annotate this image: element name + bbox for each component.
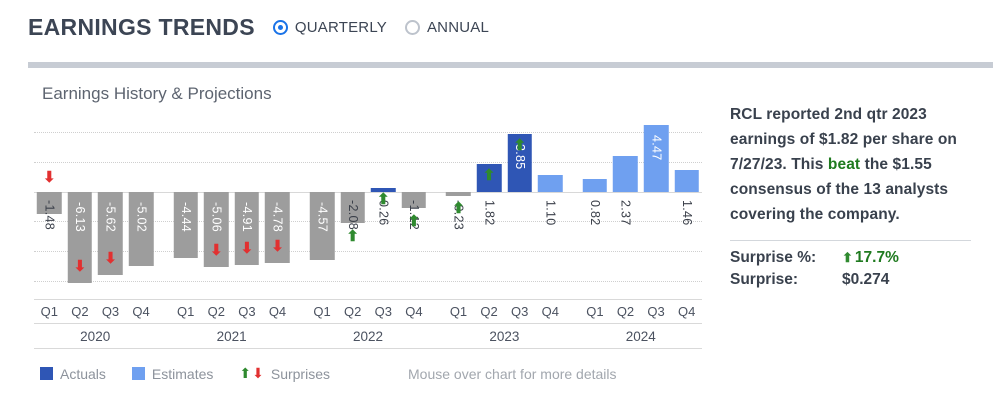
bar-value-label: 1.46 — [680, 200, 693, 226]
bar-slot[interactable]: 1.10 — [535, 114, 566, 299]
quarter-tick-label: Q1 — [580, 304, 611, 319]
surprise-stat-row: Surprise %:⬆17.7% — [730, 249, 971, 267]
bar-value-label: -5.02 — [135, 202, 148, 232]
legend-item-estimates: Estimates — [132, 366, 213, 382]
surprise-arrow-up-icon: ⬆ — [375, 192, 391, 208]
legend-label-surprises: Surprises — [271, 366, 330, 382]
bar-slot[interactable]: 1.82⬆ — [474, 114, 505, 299]
bar-value-label: -4.78 — [271, 202, 284, 232]
surprise-stat-row: Surprise:$0.274 — [730, 271, 971, 289]
bar-value-label: -4.91 — [241, 202, 254, 232]
surprise-arrow-up-icon: ⬆ — [345, 229, 361, 245]
surprise-stat-value: $0.274 — [842, 271, 889, 289]
surprise-stat-key: Surprise: — [730, 271, 842, 289]
quarter-tick-label: Q3 — [232, 304, 263, 319]
bar-slot[interactable]: 0.26⬆ — [368, 114, 399, 299]
bar-slot[interactable]: -0.23⬆ — [443, 114, 474, 299]
radio-quarterly-label: QUARTERLY — [295, 19, 387, 36]
quarter-tick-label: Q4 — [126, 304, 157, 319]
earnings-bar-chart[interactable]: -1.48⬇-6.13⬇-5.62⬇-5.02-4.44-5.06⬇-4.91⬇… — [34, 114, 702, 299]
quarter-tick-label: Q3 — [641, 304, 672, 319]
bar-value-label: 4.47 — [650, 135, 663, 161]
radio-annual-label: ANNUAL — [427, 19, 489, 36]
quarter-axis: Q1Q2Q3Q4Q1Q2Q3Q4Q1Q2Q3Q4Q1Q2Q3Q4Q1Q2Q3Q4 — [34, 299, 702, 323]
bar-slot[interactable]: -1.48⬇ — [34, 114, 65, 299]
bar-estimate[interactable] — [613, 156, 637, 191]
surprise-arrow-down-icon: ⬇ — [72, 259, 88, 275]
quarter-tick-label: Q2 — [610, 304, 641, 319]
bar-value-label: -1.48 — [43, 200, 56, 230]
bar-value-label: -6.13 — [74, 202, 87, 232]
surprise-arrow-up-icon: ⬆ — [406, 214, 422, 230]
earnings-summary-text: RCL reported 2nd qtr 2023 earnings of $1… — [730, 102, 971, 228]
bar-slot[interactable]: 2.37 — [610, 114, 641, 299]
legend-swatch-actuals — [40, 367, 53, 380]
bar-slot[interactable]: -2.08⬆ — [337, 114, 368, 299]
bar-value-label: -4.44 — [179, 202, 192, 232]
quarter-tick-label: Q2 — [65, 304, 96, 319]
bar-slot[interactable]: 0.82 — [580, 114, 611, 299]
surprise-arrow-up-icon: ⬆ — [481, 168, 497, 184]
quarter-tick-label: Q1 — [307, 304, 338, 319]
bar-value-label: 1.82 — [483, 200, 496, 226]
bar-slot[interactable]: 1.46 — [671, 114, 702, 299]
quarter-tick-label: Q4 — [262, 304, 293, 319]
bar-slot[interactable]: 3.85⬆ — [504, 114, 535, 299]
legend-item-surprises: ⬆⬇ Surprises — [239, 365, 330, 382]
page-title: EARNINGS TRENDS — [28, 14, 255, 41]
year-tick-label: 2022 — [307, 329, 429, 344]
bar-slot[interactable]: -4.44 — [170, 114, 201, 299]
surprise-arrow-down-icon: ⬇ — [239, 241, 255, 257]
bar-value-label: 0.82 — [589, 200, 602, 226]
radio-quarterly-icon[interactable] — [273, 20, 288, 35]
quarter-tick-label: Q3 — [95, 304, 126, 319]
year-tick-label: 2023 — [443, 329, 565, 344]
bar-value-label: 2.37 — [619, 200, 632, 226]
chart-hint-text: Mouse over chart for more details — [408, 366, 617, 382]
surprise-stat-value: ⬆17.7% — [842, 249, 899, 267]
surprise-arrow-up-icon: ⬆ — [450, 201, 466, 217]
bar-slot[interactable]: -4.78⬇ — [262, 114, 293, 299]
quarter-tick-label: Q2 — [201, 304, 232, 319]
quarter-tick-label: Q3 — [504, 304, 535, 319]
surprise-arrow-down-icon: ⬇ — [269, 239, 285, 255]
chart-panel: Earnings History & Projections -1.48⬇-6.… — [28, 68, 718, 382]
quarter-tick-label: Q2 — [337, 304, 368, 319]
surprise-stats: Surprise %:⬆17.7%Surprise:$0.274 — [730, 249, 971, 289]
surprise-arrow-down-icon: ⬇ — [208, 243, 224, 259]
bar-slot[interactable]: -4.91⬇ — [232, 114, 263, 299]
summary-beat-word: beat — [828, 156, 860, 173]
legend-label-estimates: Estimates — [152, 366, 213, 382]
bar-slot[interactable]: -6.13⬇ — [65, 114, 96, 299]
bar-slot[interactable]: -5.02 — [126, 114, 157, 299]
quarter-tick-label: Q4 — [399, 304, 430, 319]
bar-slot[interactable]: -5.06⬇ — [201, 114, 232, 299]
legend-item-actuals: Actuals — [40, 366, 106, 382]
surprise-stat-number: 17.7% — [855, 249, 899, 267]
legend-swatch-estimates — [132, 367, 145, 380]
chart-legend: Actuals Estimates ⬆⬇ Surprises Mouse ove… — [40, 365, 718, 382]
bar-value-label: 1.10 — [544, 200, 557, 226]
quarter-tick-label: Q2 — [474, 304, 505, 319]
bar-slot[interactable]: -4.57 — [307, 114, 338, 299]
quarter-tick-label: Q4 — [671, 304, 702, 319]
chart-title: Earnings History & Projections — [28, 68, 718, 114]
bar-estimate[interactable] — [674, 170, 698, 192]
summary-divider — [730, 240, 971, 241]
surprise-arrow-down-icon: ⬇ — [102, 251, 118, 267]
radio-option-quarterly[interactable]: QUARTERLY — [273, 19, 387, 36]
bar-value-label: -5.62 — [104, 202, 117, 232]
period-radio-group: QUARTERLY ANNUAL — [273, 19, 507, 36]
bar-estimate[interactable] — [538, 175, 562, 191]
quarter-tick-label: Q1 — [170, 304, 201, 319]
bar-slot[interactable]: -5.62⬇ — [95, 114, 126, 299]
year-tick-label: 2021 — [170, 329, 292, 344]
year-tick-label: 2024 — [580, 329, 702, 344]
surprise-arrow-up-icon: ⬆ — [512, 138, 528, 154]
bar-estimate[interactable] — [583, 179, 607, 191]
earnings-summary-panel: RCL reported 2nd qtr 2023 earnings of $1… — [718, 68, 983, 382]
surprise-stat-number: $0.274 — [842, 271, 889, 289]
bar-value-label: -2.08 — [346, 200, 359, 230]
legend-label-actuals: Actuals — [60, 366, 106, 382]
year-tick-label: 2020 — [34, 329, 156, 344]
bar-value-label: -4.57 — [316, 202, 329, 232]
quarter-tick-label: Q4 — [535, 304, 566, 319]
bar-reported[interactable] — [446, 192, 470, 196]
surprise-arrows-icon: ⬆⬇ — [239, 365, 264, 382]
stat-arrow-up-icon: ⬆ — [842, 250, 853, 266]
radio-annual-icon[interactable] — [405, 20, 420, 35]
quarter-tick-label: Q3 — [368, 304, 399, 319]
bar-value-label: -5.06 — [210, 202, 223, 232]
quarter-tick-label: Q1 — [443, 304, 474, 319]
content-area: Earnings History & Projections -1.48⬇-6.… — [0, 68, 993, 382]
year-axis: 20202021202220232024 — [34, 323, 702, 349]
radio-option-annual[interactable]: ANNUAL — [405, 19, 489, 36]
surprise-arrow-down-icon: ⬇ — [41, 170, 57, 186]
quarter-tick-label: Q1 — [34, 304, 65, 319]
surprise-stat-key: Surprise %: — [730, 249, 842, 267]
bar-slot[interactable]: -1.12⬆ — [399, 114, 430, 299]
bar-slot[interactable]: 4.47 — [641, 114, 672, 299]
page-header: EARNINGS TRENDS QUARTERLY ANNUAL — [0, 0, 993, 60]
